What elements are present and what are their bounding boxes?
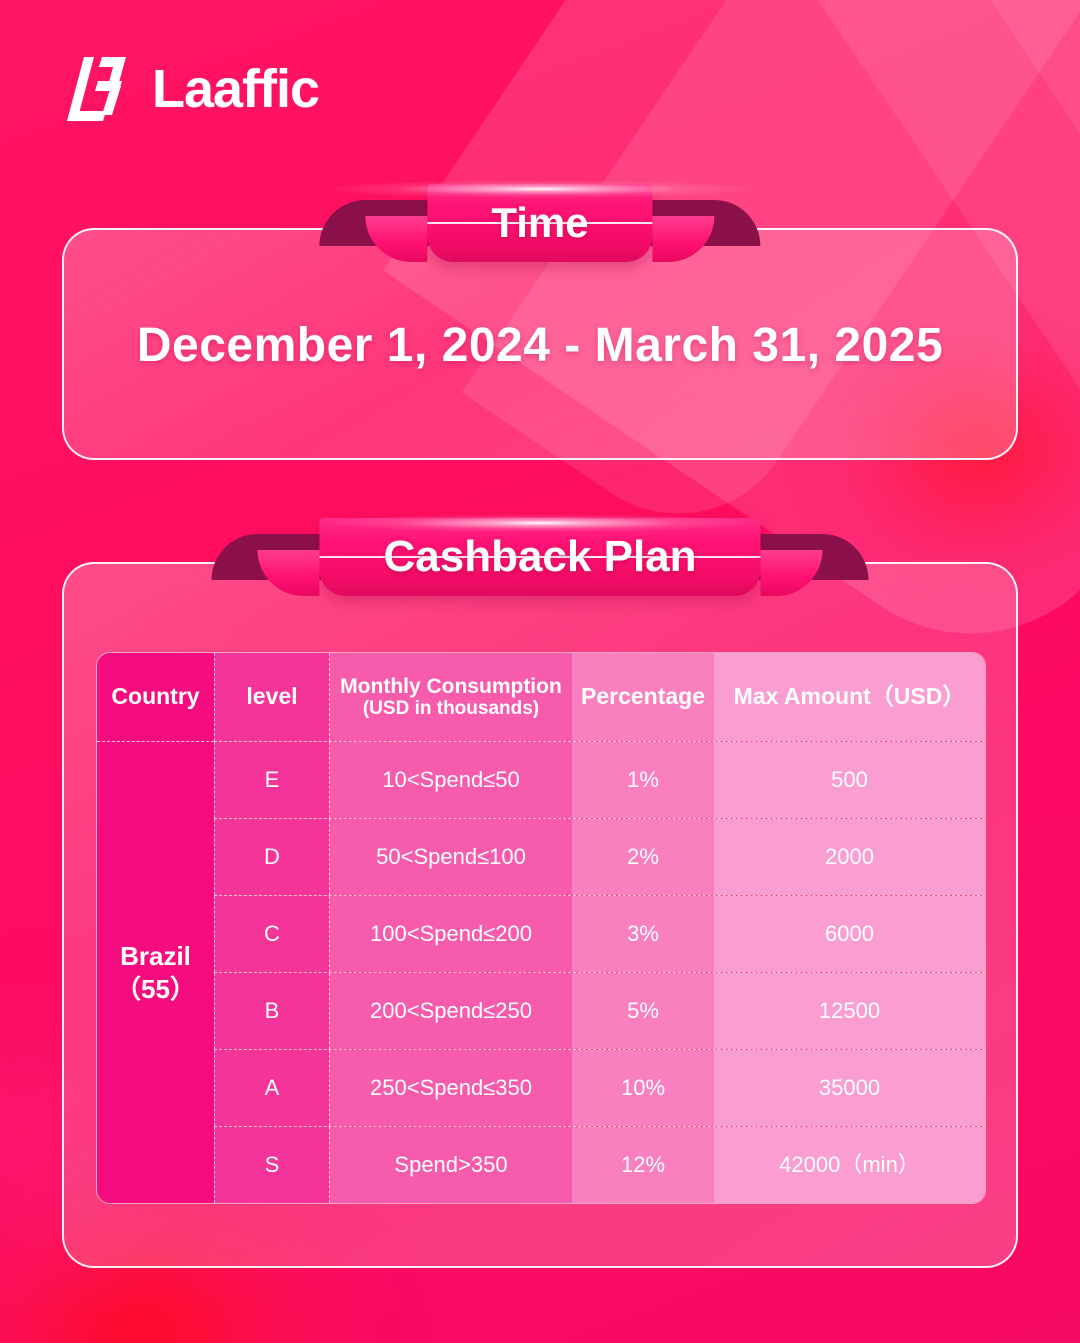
cell-percentage: 5% [572,973,714,1049]
cell-level: E [214,742,329,818]
table-header-row: Country level Monthly Consumption (USD i… [97,653,985,741]
cell-max-amount: 12500 [714,973,985,1049]
cell-max-amount: 42000（min） [714,1127,985,1203]
brand-name: Laaffic [152,62,319,116]
cell-percentage: 3% [572,896,714,972]
cell-percentage: 2% [572,819,714,895]
cell-max-amount: 500 [714,742,985,818]
header-level: level [214,653,329,741]
cell-level: A [214,1050,329,1126]
table-row: SSpend>35012%42000（min） [214,1126,985,1203]
ribbon-tail-left [365,216,427,262]
cashback-plan-ribbon: Cashback Plan [319,518,760,596]
header-percentage: Percentage [572,653,714,741]
cell-max-amount: 6000 [714,896,985,972]
cell-level: C [214,896,329,972]
table-body: Brazil （55） E10<Spend≤501%500D50<Spend≤1… [97,741,985,1203]
brand-logo: Laaffic [62,55,319,123]
table-row: C100<Spend≤2003%6000 [214,895,985,972]
cell-max-amount: 35000 [714,1050,985,1126]
country-name: Brazil [120,940,191,973]
cell-monthly-consumption: 100<Spend≤200 [329,896,572,972]
table-row: A250<Spend≤35010%35000 [214,1049,985,1126]
header-monthly-consumption-line2: (USD in thousands) [363,698,539,719]
cashback-tier-table: Country level Monthly Consumption (USD i… [96,652,986,1204]
time-ribbon-label: Time [491,202,588,244]
cell-max-amount: 2000 [714,819,985,895]
time-ribbon: Time [427,184,652,262]
cashback-plan-card: Cashback Plan Country level Monthly Cons… [62,562,1018,1268]
cell-percentage: 1% [572,742,714,818]
cell-level: S [214,1127,329,1203]
table-row: D50<Spend≤1002%2000 [214,818,985,895]
cell-level: B [214,973,329,1049]
header-max-amount: Max Amount（USD） [714,653,985,741]
header-monthly-consumption: Monthly Consumption (USD in thousands) [329,653,572,741]
cell-level: D [214,819,329,895]
tier-rows: E10<Spend≤501%500D50<Spend≤1002%2000C100… [214,741,985,1203]
ribbon-body: Time [427,184,652,262]
campaign-date-range: December 1, 2024 - March 31, 2025 [64,318,1016,373]
cell-monthly-consumption: 50<Spend≤100 [329,819,572,895]
cell-monthly-consumption: 250<Spend≤350 [329,1050,572,1126]
ribbon-body: Cashback Plan [319,518,760,596]
cashback-plan-ribbon-label: Cashback Plan [383,535,696,579]
cell-monthly-consumption: 200<Spend≤250 [329,973,572,1049]
promo-poster: Laaffic Time December 1, 2024 - March 31… [0,0,1080,1343]
ribbon-tail-left [257,550,319,596]
cell-percentage: 12% [572,1127,714,1203]
cell-percentage: 10% [572,1050,714,1126]
ribbon-tail-right [653,216,715,262]
header-country: Country [97,653,214,741]
country-code: （55） [115,973,196,1006]
table-row: E10<Spend≤501%500 [214,741,985,818]
ribbon-tail-right [761,550,823,596]
laaffic-logo-mark-icon [62,55,136,123]
cell-monthly-consumption: 10<Spend≤50 [329,742,572,818]
country-cell: Brazil （55） [97,741,214,1203]
header-monthly-consumption-line1: Monthly Consumption [340,675,562,699]
cell-monthly-consumption: Spend>350 [329,1127,572,1203]
table-row: B200<Spend≤2505%12500 [214,972,985,1049]
time-card: Time December 1, 2024 - March 31, 2025 [62,228,1018,460]
